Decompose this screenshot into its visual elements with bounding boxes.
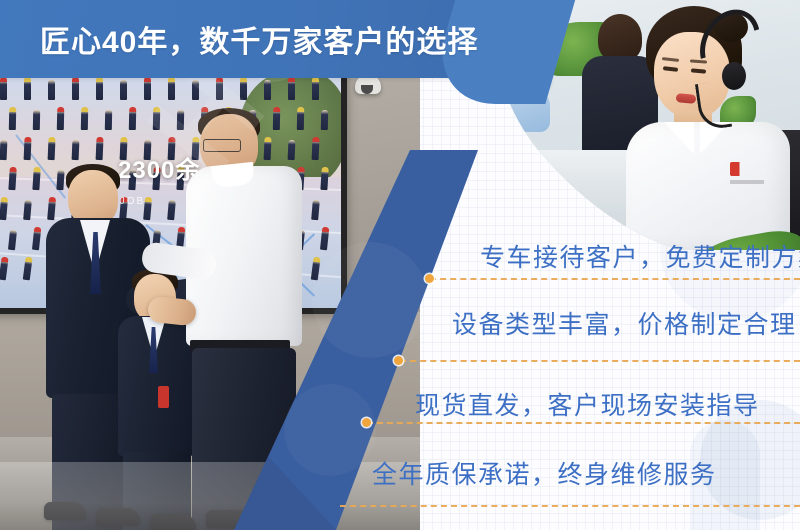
glasses-icon (203, 139, 241, 152)
page-title: 匠心40年，数千万家客户的选择 (40, 17, 478, 61)
shoe (206, 510, 254, 528)
feature-divider-4 (340, 505, 800, 507)
person-white-shirt (186, 114, 306, 530)
promo-banner: 2300余人 HOT JOB online employment (0, 0, 800, 530)
feature-dot-2 (394, 356, 403, 365)
shoe (44, 502, 86, 520)
feature-divider-1 (430, 278, 800, 280)
feature-label-1: 专车接待客户，免费定制方案 (480, 238, 800, 274)
shoe (96, 508, 140, 526)
feature-dot-3 (362, 418, 371, 427)
feature-divider-3 (367, 422, 800, 424)
feature-label-4: 全年质保承诺，终身维修服务 (372, 455, 717, 491)
feature-list: 专车接待客户，免费定制方案 设备类型丰富，价格制定合理 现货直发，客户现场安装指… (340, 0, 800, 530)
feature-label-2: 设备类型丰富，价格制定合理 (452, 305, 797, 341)
feature-label-3: 现货直发，客户现场安装指导 (415, 386, 760, 422)
feature-divider-2 (400, 360, 800, 362)
red-badge-icon (158, 386, 169, 408)
shoe (150, 514, 196, 530)
feature-dot-1 (425, 274, 434, 283)
